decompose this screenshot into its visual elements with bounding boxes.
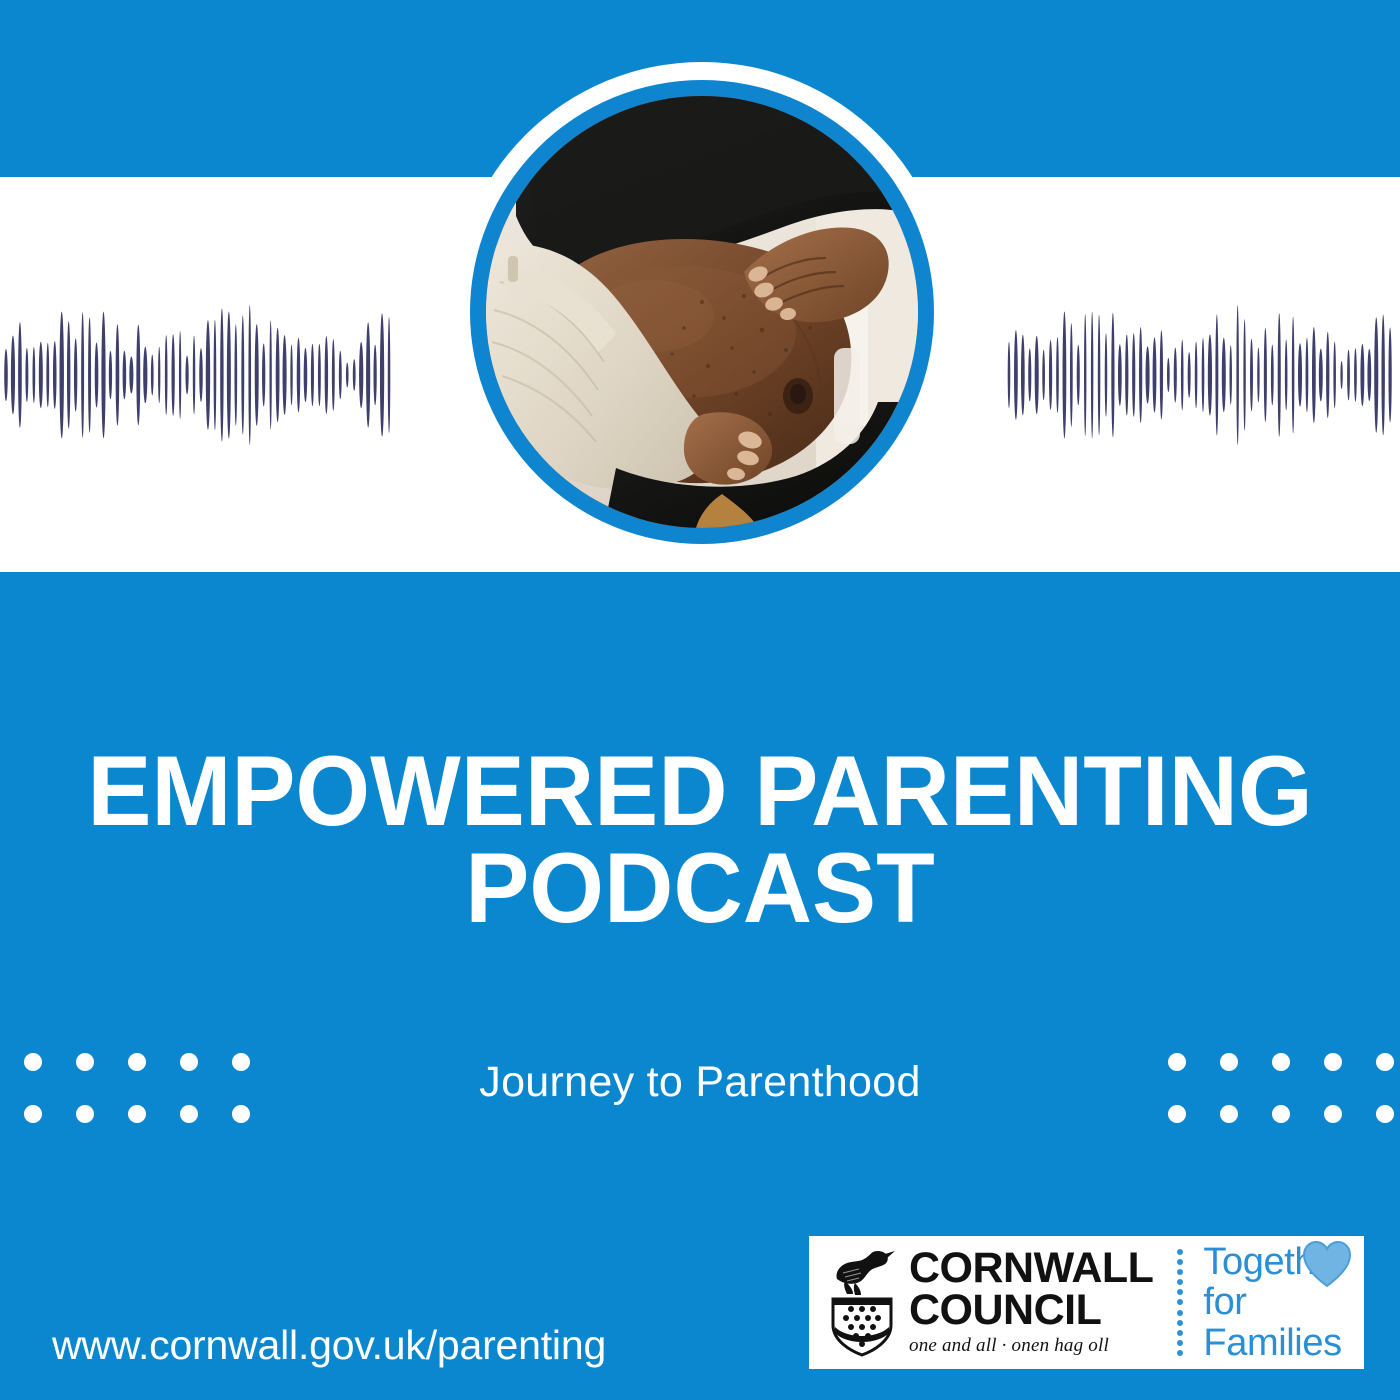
divider-dot — [1177, 1330, 1183, 1336]
waveform-bar — [1070, 323, 1073, 427]
waveform-bar — [366, 322, 370, 427]
dot — [1168, 1105, 1186, 1123]
waveform-bar — [1139, 327, 1142, 423]
waveform-bar — [241, 315, 244, 434]
divider-dot — [1177, 1299, 1183, 1305]
waveform-bar — [1174, 348, 1177, 403]
dot — [1272, 1053, 1290, 1071]
waveform-bar — [39, 342, 43, 408]
waveform-bar — [1008, 342, 1011, 408]
waveform-bar — [1084, 314, 1086, 436]
divider-dot — [1177, 1249, 1183, 1255]
waveform-bar — [1354, 348, 1357, 402]
waveform-bar — [1229, 345, 1231, 404]
waveform-bar — [1374, 317, 1378, 432]
waveform-bar — [388, 317, 391, 433]
waveform-bar — [59, 312, 63, 439]
waveform-bar — [33, 347, 36, 403]
dot — [76, 1105, 94, 1123]
waveform-bar — [136, 325, 140, 426]
waveform-bar — [214, 320, 217, 431]
dot — [76, 1053, 94, 1071]
waveform-bar — [1367, 349, 1371, 401]
waveform-bar — [123, 351, 127, 400]
waveform-bar — [1091, 312, 1093, 439]
divider-dot — [1177, 1269, 1183, 1275]
divider-dot — [1177, 1279, 1183, 1285]
dot — [180, 1053, 198, 1071]
dot — [1324, 1105, 1342, 1123]
dot — [180, 1105, 198, 1123]
waveform-bar — [1063, 312, 1067, 439]
waveform-bar — [206, 320, 210, 430]
waveform-bar — [1098, 315, 1101, 435]
waveform-bar — [255, 324, 259, 426]
pregnancy-photo — [486, 96, 918, 528]
waveform-bar — [1056, 337, 1059, 413]
waveform-bar — [116, 324, 120, 426]
divider-dot — [1177, 1259, 1183, 1265]
divider-dot — [1177, 1320, 1183, 1326]
waveform-bar — [1243, 319, 1245, 431]
dot — [1376, 1053, 1394, 1071]
tff-line-2: for Families — [1203, 1282, 1364, 1363]
waveform-bar — [101, 312, 105, 439]
waveform-bar — [158, 347, 160, 403]
dot — [1324, 1053, 1342, 1071]
waveform-bar — [1264, 328, 1267, 422]
dot — [24, 1105, 42, 1123]
divider-dot — [1177, 1340, 1183, 1346]
divider-dot — [1177, 1289, 1183, 1295]
waveform-bar — [234, 324, 237, 425]
waveform-bar — [1118, 344, 1122, 406]
dot — [1220, 1105, 1238, 1123]
waveform-bar — [1146, 346, 1150, 403]
waveform-bar — [1250, 339, 1253, 412]
waveform-bar — [53, 341, 57, 409]
dot-pattern-left — [24, 1053, 284, 1157]
waveform-bar — [1298, 343, 1302, 406]
waveform-bar — [220, 308, 223, 441]
waveform-bar — [283, 335, 287, 415]
dot — [1272, 1105, 1290, 1123]
dot — [128, 1053, 146, 1071]
waveform-bar — [1340, 361, 1342, 389]
waveform-bar — [1202, 338, 1205, 412]
council-motto: one and all · onen hag oll — [909, 1335, 1153, 1357]
dot — [128, 1105, 146, 1123]
waveform-bar — [332, 339, 335, 411]
waveform-bar — [1153, 337, 1157, 412]
waveform-bar — [25, 348, 28, 402]
waveform-bar — [262, 343, 265, 406]
waveform-bar — [359, 342, 363, 408]
waveform-bar — [171, 334, 174, 415]
waveform-bar — [95, 343, 99, 408]
waveform-bar — [1160, 330, 1163, 419]
divider-dot — [1177, 1350, 1183, 1356]
waveform-bar — [1125, 334, 1128, 415]
waveform-bar — [1360, 344, 1364, 406]
waveform-bar — [311, 344, 314, 406]
logo-divider — [1177, 1249, 1183, 1357]
waveform-bar — [151, 355, 154, 396]
waveform-bar — [81, 312, 84, 437]
waveform-bar — [339, 351, 342, 400]
waveform-bar — [109, 351, 112, 400]
waveform-bar — [290, 345, 292, 406]
waveform-bar — [1236, 305, 1239, 445]
cornwall-council-crest-icon — [825, 1249, 899, 1357]
podcast-cover-art: EMPOWERED PARENTING PODCAST Journey to P… — [0, 0, 1400, 1400]
dot-pattern-right — [1168, 1053, 1400, 1157]
waveform-bar — [373, 345, 376, 406]
waveform-bar — [1215, 314, 1218, 435]
waveform-bar — [1077, 345, 1080, 406]
waveform-bar — [129, 356, 133, 393]
website-url[interactable]: www.cornwall.gov.uk/parenting — [52, 1322, 606, 1369]
dot — [1168, 1053, 1186, 1071]
waveform-bar — [304, 348, 308, 402]
waveform-bar — [67, 321, 70, 429]
waveform-bar — [1333, 342, 1336, 409]
circular-photo-badge — [452, 62, 952, 562]
waveform-bar — [1042, 350, 1045, 401]
waveform-bar — [1014, 330, 1018, 420]
together-for-families-wordmark: Together for Families — [1203, 1242, 1364, 1363]
waveform-bar — [1028, 349, 1031, 402]
waveform-bar — [318, 344, 321, 406]
waveform-bar — [179, 331, 181, 419]
waveform-bar — [1049, 340, 1052, 410]
title-line-1: EMPOWERED PARENTING — [21, 742, 1379, 839]
waveform-bar — [1167, 358, 1170, 392]
waveform-bar — [353, 359, 356, 391]
waveform-bar — [18, 322, 22, 428]
dot — [232, 1105, 250, 1123]
waveform-bar — [193, 336, 195, 415]
waveform-bar — [1347, 350, 1350, 401]
waveform-bar — [276, 328, 280, 422]
waveform-bar — [1388, 328, 1391, 423]
waveform-bar — [1271, 345, 1274, 406]
waveform-bar — [1181, 340, 1184, 411]
waveform-bar — [269, 320, 271, 429]
divider-dot — [1177, 1310, 1183, 1316]
waveform-bar — [4, 349, 8, 401]
waveform-bar — [1257, 347, 1259, 402]
audio-waveform-left-icon — [2, 300, 402, 450]
waveform-bar — [297, 338, 301, 413]
waveform-bar — [143, 347, 147, 404]
title-line-2: PODCAST — [21, 839, 1379, 936]
waveform-bar — [1035, 336, 1039, 414]
heart-icon — [1302, 1240, 1352, 1288]
waveform-bar — [1278, 313, 1281, 437]
waveform-bar — [380, 313, 384, 436]
podcast-title: EMPOWERED PARENTING PODCAST — [0, 742, 1400, 936]
waveform-bar — [1285, 340, 1288, 411]
waveform-bar — [1222, 338, 1226, 413]
waveform-bar — [325, 336, 328, 414]
waveform-bar — [1306, 338, 1309, 413]
waveform-bar — [1381, 315, 1384, 436]
waveform-bar — [1312, 327, 1316, 423]
waveform-bar — [248, 305, 251, 445]
waveform-bar — [1195, 342, 1198, 409]
waveform-bar — [46, 343, 49, 407]
council-name-line-1: CORNWALL — [909, 1248, 1153, 1289]
waveform-bar — [227, 311, 231, 438]
waveform-bar — [1326, 332, 1329, 418]
waveform-bar — [74, 338, 77, 411]
waveform-bar — [1292, 317, 1295, 434]
dot — [1220, 1053, 1238, 1071]
waveform-bar — [185, 356, 188, 395]
waveform-bar — [1111, 313, 1114, 438]
waveform-bar — [11, 336, 15, 415]
waveform-bar — [88, 317, 91, 433]
waveform-bar — [1132, 333, 1135, 417]
waveform-bar — [1319, 349, 1323, 402]
dot — [24, 1053, 42, 1071]
waveform-bar — [1208, 334, 1212, 415]
waveform-bar — [199, 348, 202, 402]
waveform-bar — [1021, 335, 1025, 416]
waveform-bar — [1105, 333, 1108, 416]
waveform-bar — [346, 363, 349, 388]
waveform-bar — [165, 335, 168, 415]
dot — [232, 1053, 250, 1071]
dot — [1376, 1105, 1394, 1123]
audio-waveform-right-icon — [1005, 300, 1400, 450]
council-wordmark: CORNWALL COUNCIL one and all · onen hag … — [909, 1248, 1153, 1357]
council-name-line-2: COUNCIL — [909, 1290, 1153, 1331]
cornwall-council-logo-lockup: CORNWALL COUNCIL one and all · onen hag … — [809, 1236, 1364, 1369]
waveform-bar — [1188, 352, 1191, 398]
